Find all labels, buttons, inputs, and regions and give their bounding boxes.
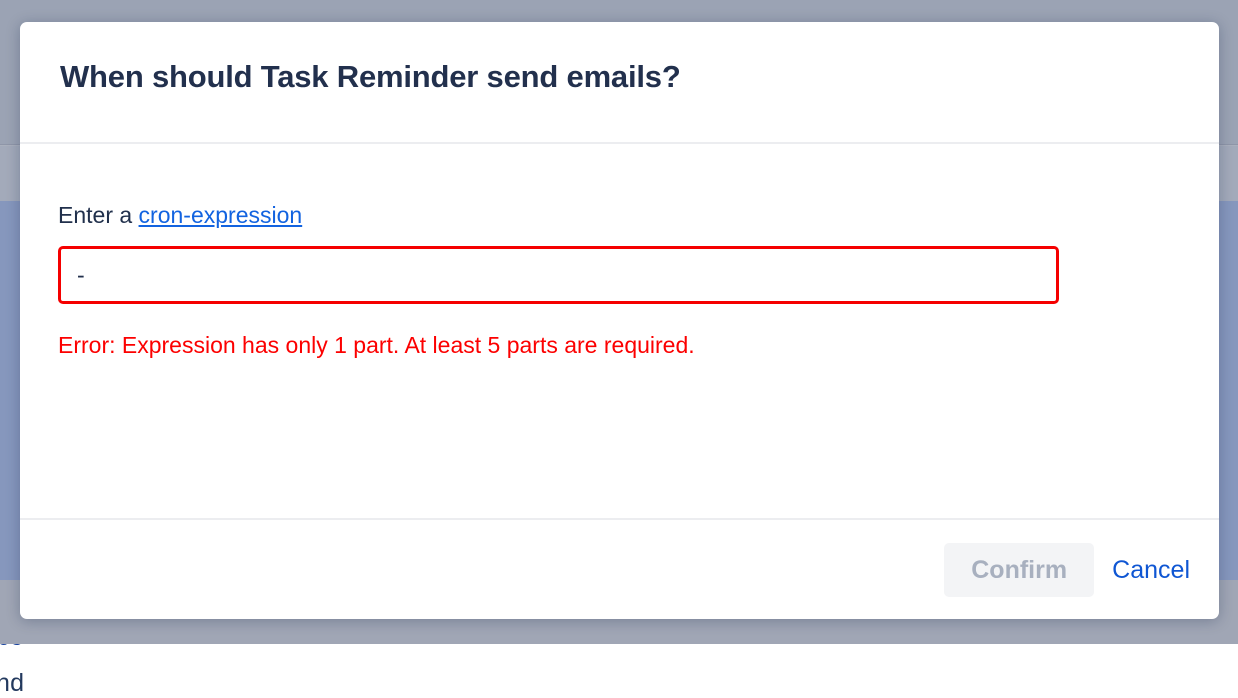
confirm-button[interactable]: Confirm: [944, 543, 1094, 597]
dialog-header: When should Task Reminder send emails?: [20, 22, 1219, 142]
validation-error-message: Error: Expression has only 1 part. At le…: [58, 332, 695, 359]
dialog-actions: Confirm Cancel: [944, 543, 1199, 597]
cron-field-label: Enter a cron-expression: [58, 202, 302, 229]
dialog-body: Enter a cron-expression Error: Expressio…: [20, 144, 1219, 518]
cron-expression-input[interactable]: [58, 246, 1059, 304]
cron-expression-help-link[interactable]: cron-expression: [139, 202, 303, 228]
cron-field-label-prefix: Enter a: [58, 202, 139, 228]
cron-expression-dialog: When should Task Reminder send emails? E…: [20, 22, 1219, 619]
background-text-fragment: nd: [0, 669, 24, 698]
dialog-footer: Confirm Cancel: [20, 520, 1219, 619]
dialog-title: When should Task Reminder send emails?: [60, 59, 681, 95]
cancel-button[interactable]: Cancel: [1103, 543, 1199, 597]
